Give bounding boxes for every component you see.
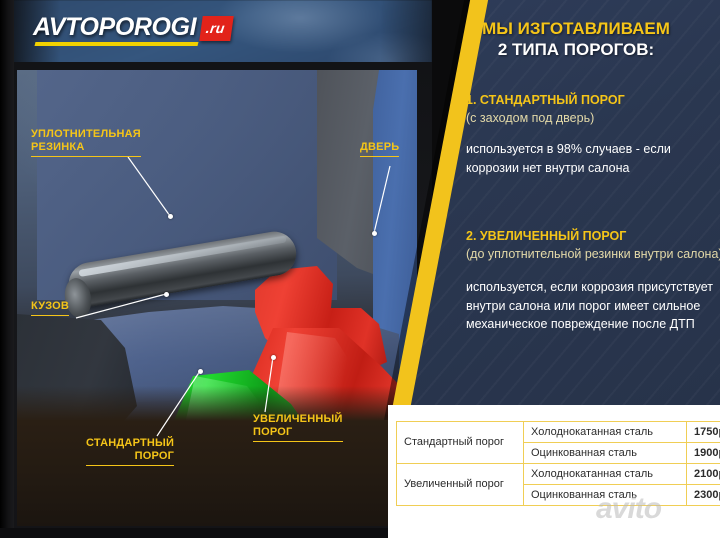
callout-car-body: КУЗОВ [31, 300, 69, 316]
info-block-standard-title: 1. СТАНДАРТНЫЙ ПОРОГ [466, 92, 720, 109]
brand-logo[interactable]: AVTOPOROGI .ru [33, 15, 232, 46]
leader-dot-door [372, 231, 377, 236]
callout-increased-sill: УВЕЛИЧЕННЫЙ ПОРОГ [253, 413, 343, 442]
table-row: Стандартный порог Холоднокатанная сталь … [397, 422, 720, 443]
price-table-container: Стандартный порог Холоднокатанная сталь … [388, 405, 720, 538]
diagram-panel: УПЛОТНИТЕЛЬНАЯ РЕЗИНКА ДВЕРЬ КУЗОВ СТАНД… [0, 0, 432, 538]
callout-rubber-seal-line2: РЕЗИНКА [31, 141, 141, 157]
brand-logo-wordmark: AVTOPOROGI [33, 15, 196, 46]
price-value-standard-cold: 1750р. [687, 422, 720, 443]
render-floor-gradient [17, 386, 417, 526]
price-type-standard: Стандартный порог [397, 422, 524, 464]
callout-increased-sill-line1: УВЕЛИЧЕННЫЙ [253, 413, 343, 425]
price-table: Стандартный порог Холоднокатанная сталь … [396, 421, 720, 506]
info-block-increased-text: используется, если коррозия присутствует… [466, 278, 720, 333]
callout-door: ДВЕРЬ [360, 141, 399, 157]
info-block-increased-title: 2. УВЕЛИЧЕННЫЙ ПОРОГ [466, 228, 720, 245]
price-value-standard-galv: 1900р. [687, 443, 720, 464]
callout-rubber-seal-line1: УПЛОТНИТЕЛЬНАЯ [31, 128, 141, 140]
price-material-increased-galv: Оцинкованная сталь [524, 485, 687, 506]
info-block-increased: 2. УВЕЛИЧЕННЫЙ ПОРОГ (до уплотнительной … [466, 228, 720, 333]
price-value-increased-galv: 2300р. [687, 485, 720, 506]
leader-dot-increased [271, 355, 276, 360]
callout-increased-sill-line2: ПОРОГ [253, 426, 343, 442]
price-material-standard-cold: Холоднокатанная сталь [524, 422, 687, 443]
callout-standard-sill: СТАНДАРТНЫЙ ПОРОГ [86, 437, 174, 466]
callout-door-label: ДВЕРЬ [360, 141, 399, 157]
leader-dot-standard [198, 369, 203, 374]
price-material-standard-galv: Оцинкованная сталь [524, 443, 687, 464]
table-row: Увеличенный порог Холоднокатанная сталь … [397, 464, 720, 485]
bottom-frame-edge [0, 528, 388, 538]
left-frame-edge [0, 0, 14, 538]
leader-dot-body [164, 292, 169, 297]
brand-logo-tld-badge: .ru [199, 16, 233, 41]
info-block-standard: 1. СТАНДАРТНЫЙ ПОРОГ (с заходом под двер… [466, 92, 720, 177]
price-material-increased-cold: Холоднокатанная сталь [524, 464, 687, 485]
leader-dot-seal [168, 214, 173, 219]
info-block-standard-subtitle: (с заходом под дверь) [466, 110, 720, 127]
info-block-increased-subtitle: (до уплотнительной резинки внутри салона… [466, 246, 720, 263]
info-block-standard-text: используется в 98% случаев - если корроз… [466, 140, 720, 177]
callout-standard-sill-line1: СТАНДАРТНЫЙ [86, 437, 174, 449]
callout-standard-sill-line2: ПОРОГ [86, 450, 174, 466]
price-type-increased: Увеличенный порог [397, 464, 524, 506]
callout-car-body-label: КУЗОВ [31, 300, 69, 316]
poster-root: УПЛОТНИТЕЛЬНАЯ РЕЗИНКА ДВЕРЬ КУЗОВ СТАНД… [0, 0, 720, 538]
callout-rubber-seal: УПЛОТНИТЕЛЬНАЯ РЕЗИНКА [31, 128, 141, 157]
price-value-increased-cold: 2100р. [687, 464, 720, 485]
